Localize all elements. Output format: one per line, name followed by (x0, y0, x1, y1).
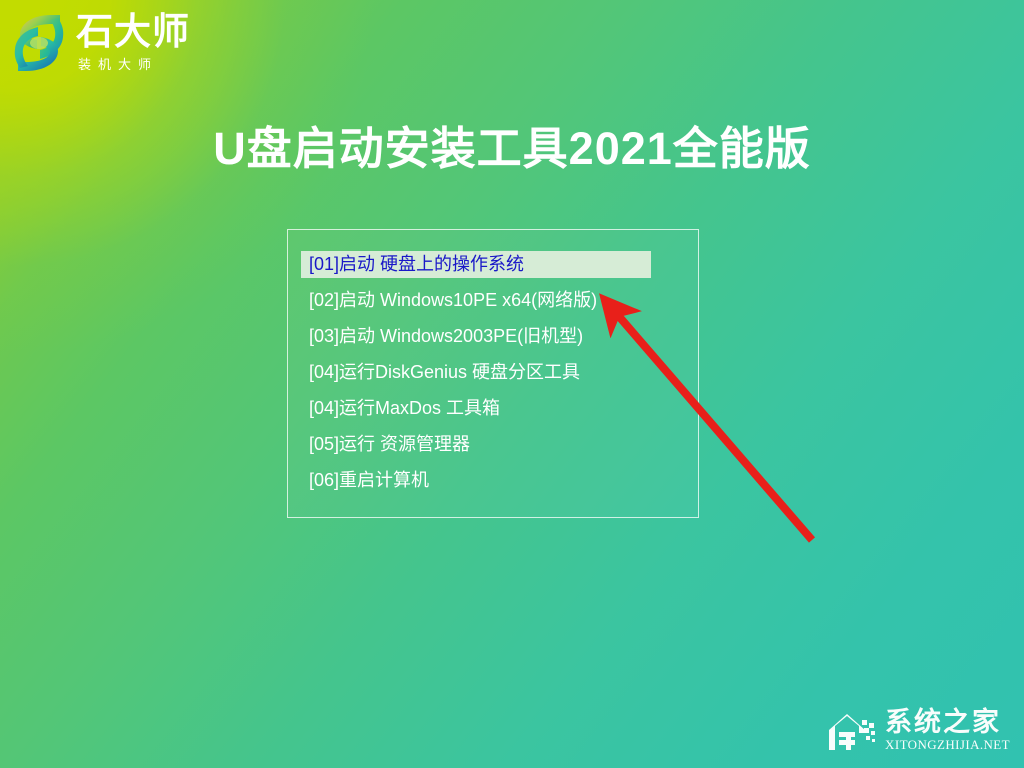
menu-item-01[interactable]: [01]启动 硬盘上的操作系统 (301, 251, 651, 278)
menu-item-06[interactable]: [06]重启计算机 (288, 467, 700, 494)
brand-subtitle: 装机大师 (76, 54, 190, 73)
brand-name: 石大师 (76, 13, 190, 51)
house-pixel-logo-icon (826, 706, 880, 754)
menu-item-04-maxdos[interactable]: [04]运行MaxDos 工具箱 (288, 395, 700, 422)
swirl-s-logo-icon (8, 10, 70, 76)
menu-item-03[interactable]: [03]启动 Windows2003PE(旧机型) (288, 323, 700, 350)
boot-menu-panel: [01]启动 硬盘上的操作系统 [02]启动 Windows10PE x64(网… (287, 229, 699, 518)
watermark: 系统之家 XITONGZHIJIA.NET (826, 706, 1010, 754)
page-title: U盘启动安装工具2021全能版 (0, 112, 1024, 177)
brand-logo: 石大师 装机大师 (8, 4, 190, 82)
menu-item-05[interactable]: [05]运行 资源管理器 (288, 431, 700, 458)
watermark-name-en: XITONGZHIJIA.NET (885, 738, 1010, 752)
menu-item-04-diskgenius[interactable]: [04]运行DiskGenius 硬盘分区工具 (288, 359, 700, 386)
watermark-text-block: 系统之家 XITONGZHIJIA.NET (885, 708, 1010, 752)
boot-menu-list[interactable]: [01]启动 硬盘上的操作系统 [02]启动 Windows10PE x64(网… (288, 230, 700, 503)
menu-item-02[interactable]: [02]启动 Windows10PE x64(网络版) (288, 287, 700, 314)
watermark-name-cn: 系统之家 (885, 708, 1001, 736)
brand-text-block: 石大师 装机大师 (76, 13, 190, 73)
boot-menu-screen: 石大师 装机大师 U盘启动安装工具2021全能版 [01]启动 硬盘上的操作系统… (0, 0, 1024, 768)
